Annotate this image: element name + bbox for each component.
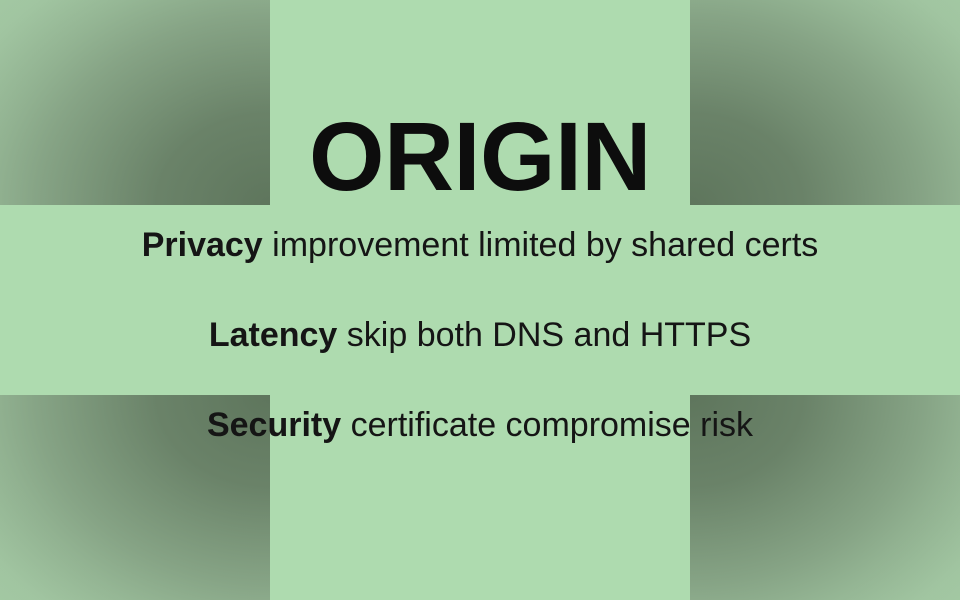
bullet-item-privacy: Privacy improvement limited by shared ce… (0, 228, 960, 318)
bullet-description-security: certificate compromise risk (351, 406, 753, 444)
presentation-slide: ORIGIN Privacy improvement limited by sh… (0, 0, 960, 600)
bullet-keyword-privacy: Privacy (142, 226, 263, 264)
slide-content: ORIGIN Privacy improvement limited by sh… (0, 0, 960, 600)
bullet-keyword-latency: Latency (209, 316, 338, 354)
slide-title: ORIGIN (0, 108, 960, 205)
bullet-keyword-security: Security (207, 406, 341, 444)
bullet-item-security: Security certificate compromise risk (0, 408, 960, 498)
bullet-item-latency: Latency skip both DNS and HTTPS (0, 318, 960, 408)
bullet-list: Privacy improvement limited by shared ce… (0, 228, 960, 498)
bullet-description-latency: skip both DNS and HTTPS (347, 316, 751, 354)
bullet-description-privacy: improvement limited by shared certs (272, 226, 818, 264)
